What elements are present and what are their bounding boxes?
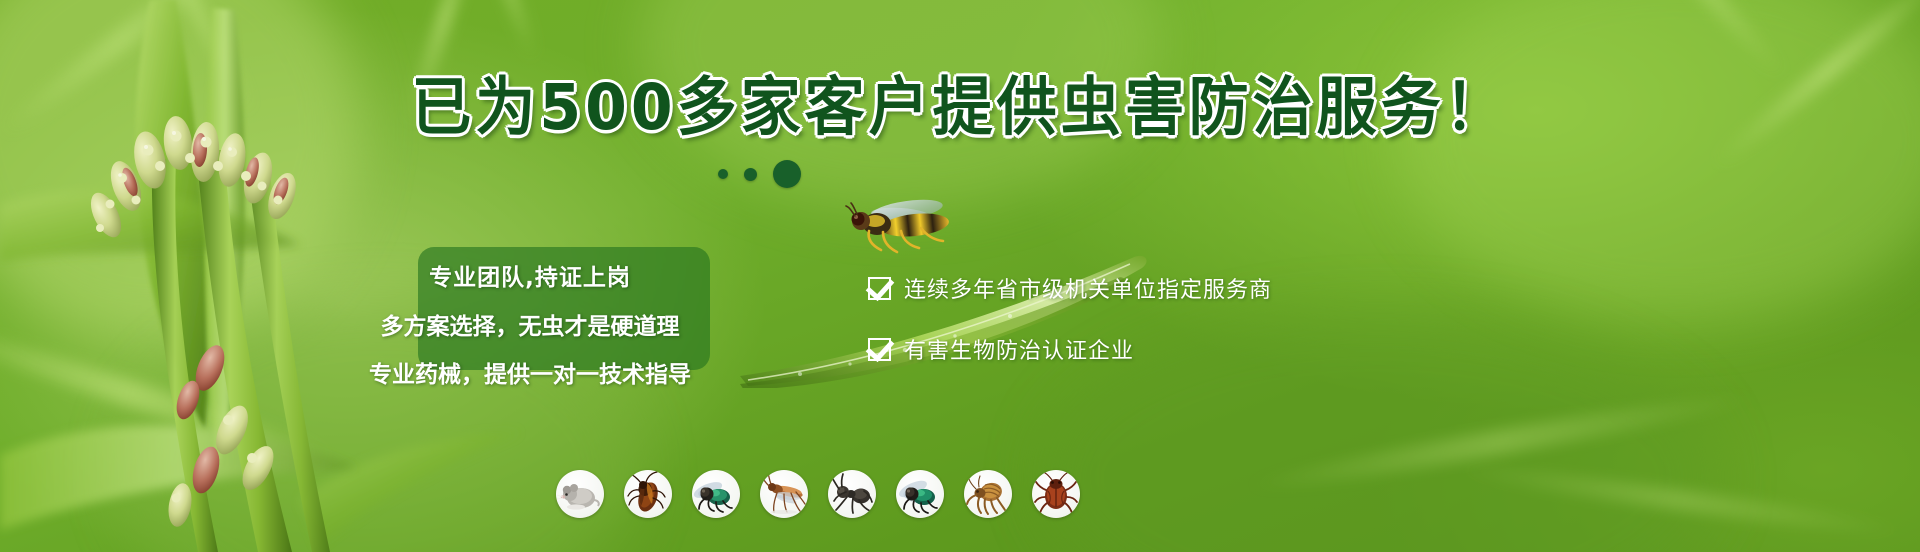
- feature-line-2: 多方案选择，无虫才是硬道理: [340, 307, 720, 341]
- background-grass-blade: [1549, 0, 1791, 83]
- pest-control-hero-banner: 已为500多家客户提供虫害防治服务！ 专业团队,持证上岗 多方案选择，无虫才是硬…: [0, 0, 1920, 552]
- cockroach-icon[interactable]: [624, 470, 672, 518]
- mosquito-icon[interactable]: [760, 470, 808, 518]
- background-grass-blade: [1242, 385, 1758, 499]
- feature-panel-text: 专业团队,持证上岗 多方案选择，无虫才是硬道理 专业药械，提供一对一技术指导: [340, 258, 720, 389]
- flea-icon[interactable]: [964, 470, 1012, 518]
- feature-line-3: 专业药械，提供一对一技术指导: [340, 355, 720, 389]
- decorative-dots: [718, 160, 801, 188]
- decorative-dot-medium: [744, 168, 757, 181]
- page-title: 已为500多家客户提供虫害防治服务！: [0, 76, 1920, 140]
- greenfly-icon[interactable]: [896, 470, 944, 518]
- mouse-icon[interactable]: [556, 470, 604, 518]
- housefly-icon[interactable]: [692, 470, 740, 518]
- credentials-checklist: 连续多年省市级机关单位指定服务商 有害生物防治认证企业: [868, 272, 1272, 394]
- pest-type-icon-row: [556, 470, 1080, 518]
- bedbug-icon[interactable]: [1032, 470, 1080, 518]
- list-item: 有害生物防治认证企业: [868, 333, 1272, 365]
- checklist-label: 连续多年省市级机关单位指定服务商: [904, 272, 1272, 304]
- hoverfly-insect-icon: [843, 198, 968, 260]
- checkbox-check-icon: [868, 338, 891, 361]
- checkbox-check-icon: [868, 277, 891, 300]
- background-grass-blade: [1451, 458, 1909, 542]
- ant-icon[interactable]: [828, 470, 876, 518]
- decorative-dot-large: [773, 160, 801, 188]
- list-item: 连续多年省市级机关单位指定服务商: [868, 272, 1272, 304]
- feature-line-1: 专业团队,持证上岗: [340, 258, 720, 292]
- decorative-dot-small: [718, 169, 728, 179]
- checklist-label: 有害生物防治认证企业: [904, 333, 1134, 365]
